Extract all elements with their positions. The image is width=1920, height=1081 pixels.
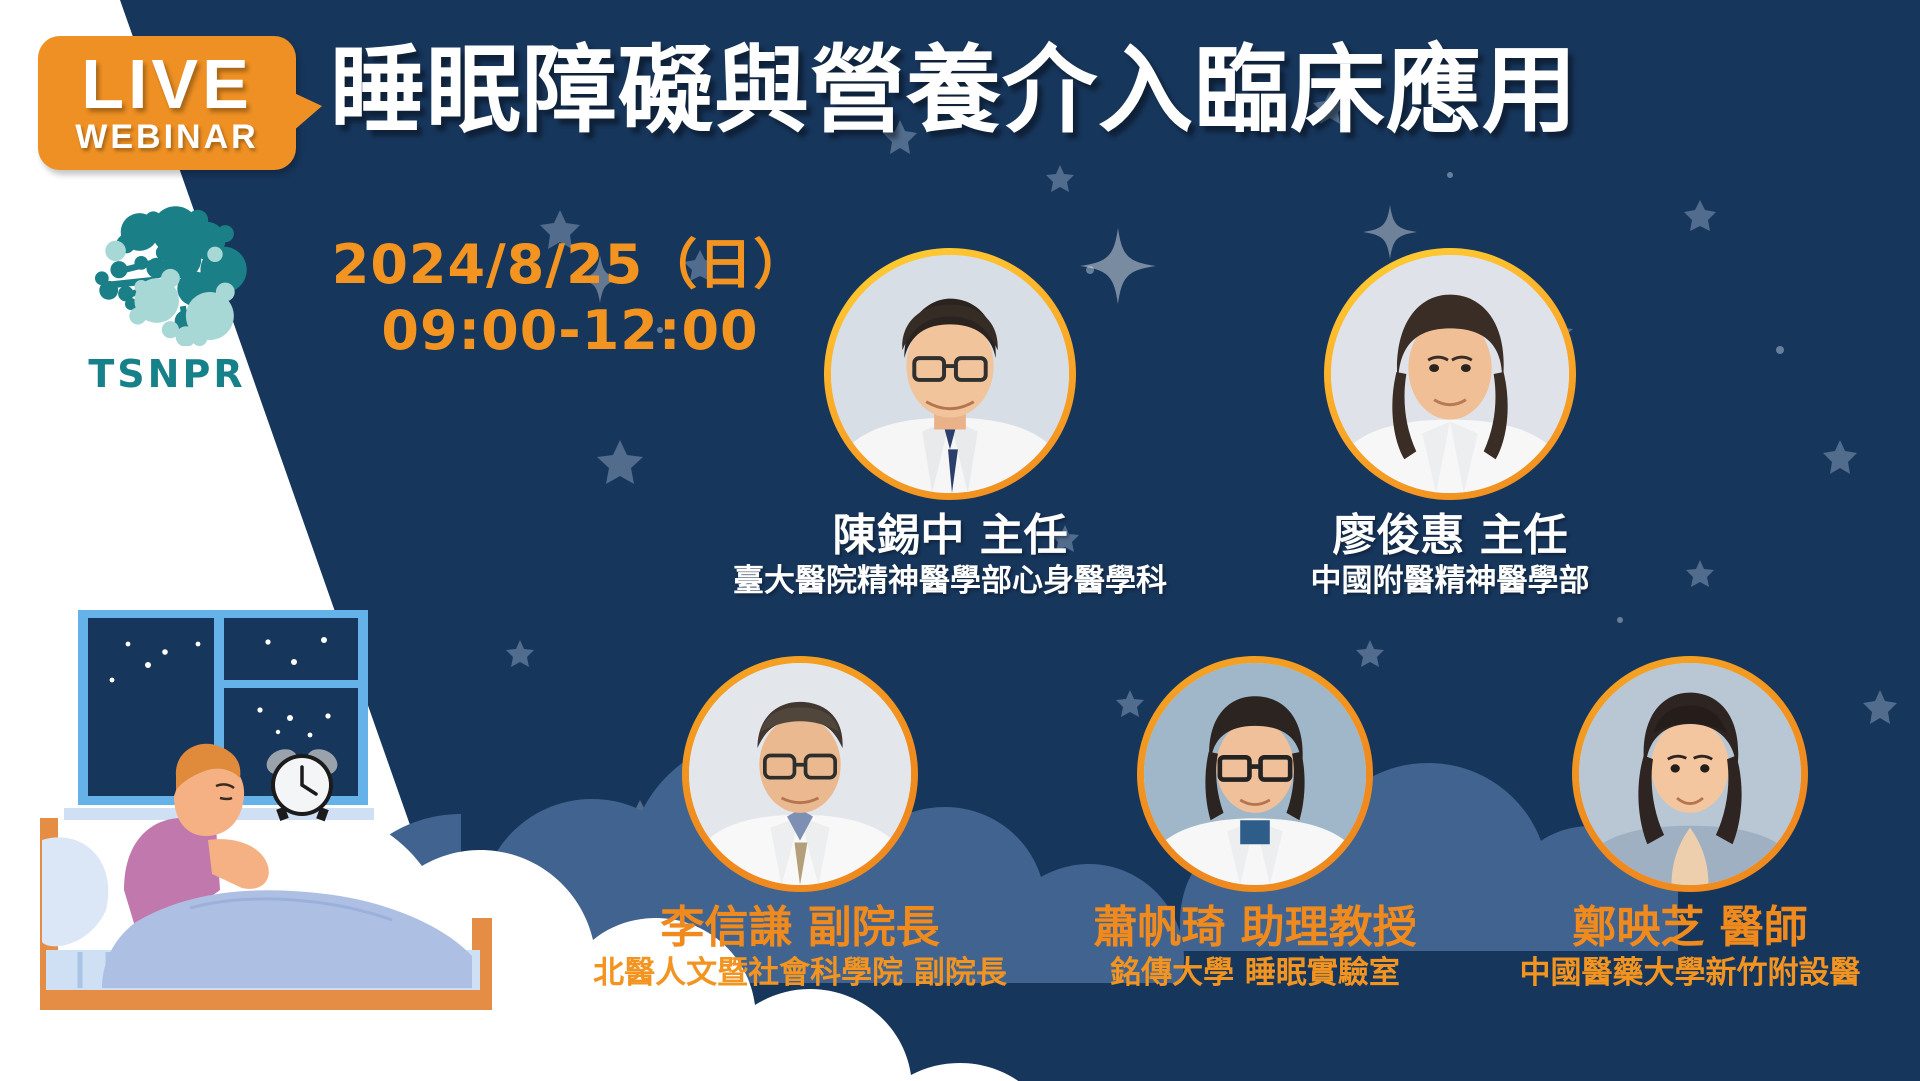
speaker-card-3: 李信謙 副院長 北醫人文暨社會科學院 副院長: [560, 656, 1040, 992]
speaker-card-1: 陳錫中 主任 臺大醫院精神醫學部心身醫學科: [710, 248, 1190, 600]
webinar-poster: LIVE WEBINAR 睡眠障礙與營養介入臨床應用 2024/8/25（日） …: [0, 0, 1920, 1081]
webinar-label: WEBINAR: [75, 120, 258, 154]
insomnia-illustration: [40, 590, 510, 1040]
speaker-photo-hsiao-fan-chi: [1144, 663, 1366, 885]
speaker-photo-cheng-ying-chih: [1579, 663, 1801, 885]
speaker-name: 李信謙 副院長: [560, 904, 1040, 952]
speaker-org: 中國醫藥大學新竹附設醫: [1475, 956, 1905, 992]
speaker-photo-ring-3: [682, 656, 918, 892]
speaker-card-5: 鄭映芝 醫師 中國醫藥大學新竹附設醫: [1475, 656, 1905, 992]
organization-abbreviation: TSNPR: [62, 352, 272, 396]
speaker-photo-ring-5: [1572, 656, 1808, 892]
brain-splatter-icon: [81, 196, 253, 346]
speaker-photo-liao-chun-hui: [1331, 255, 1569, 493]
organization-logo: TSNPR: [62, 196, 272, 396]
speaker-org: 中國附醫精神醫學部: [1215, 564, 1685, 600]
live-label: LIVE: [81, 52, 253, 118]
speaker-org: 臺大醫院精神醫學部心身醫學科: [710, 564, 1190, 600]
speaker-org: 銘傳大學 睡眠實驗室: [1045, 956, 1465, 992]
speaker-name: 鄭映芝 醫師: [1475, 904, 1905, 952]
speaker-name: 陳錫中 主任: [710, 512, 1190, 560]
live-webinar-badge: LIVE WEBINAR: [38, 36, 296, 170]
speaker-photo-ring-2: [1324, 248, 1576, 500]
speaker-photo-ring-1: [824, 248, 1076, 500]
speaker-card-4: 蕭帆琦 助理教授 銘傳大學 睡眠實驗室: [1045, 656, 1465, 992]
speaker-card-2: 廖俊惠 主任 中國附醫精神醫學部: [1215, 248, 1685, 600]
page-title: 睡眠障礙與營養介入臨床應用: [330, 38, 1890, 144]
speaker-name: 蕭帆琦 助理教授: [1045, 904, 1465, 952]
speaker-photo-chen-hsi-chung: [831, 255, 1069, 493]
speaker-photo-ring-4: [1137, 656, 1373, 892]
speaker-name: 廖俊惠 主任: [1215, 512, 1685, 560]
speaker-org: 北醫人文暨社會科學院 副院長: [560, 956, 1040, 992]
speaker-photo-li-hsin-chien: [689, 663, 911, 885]
